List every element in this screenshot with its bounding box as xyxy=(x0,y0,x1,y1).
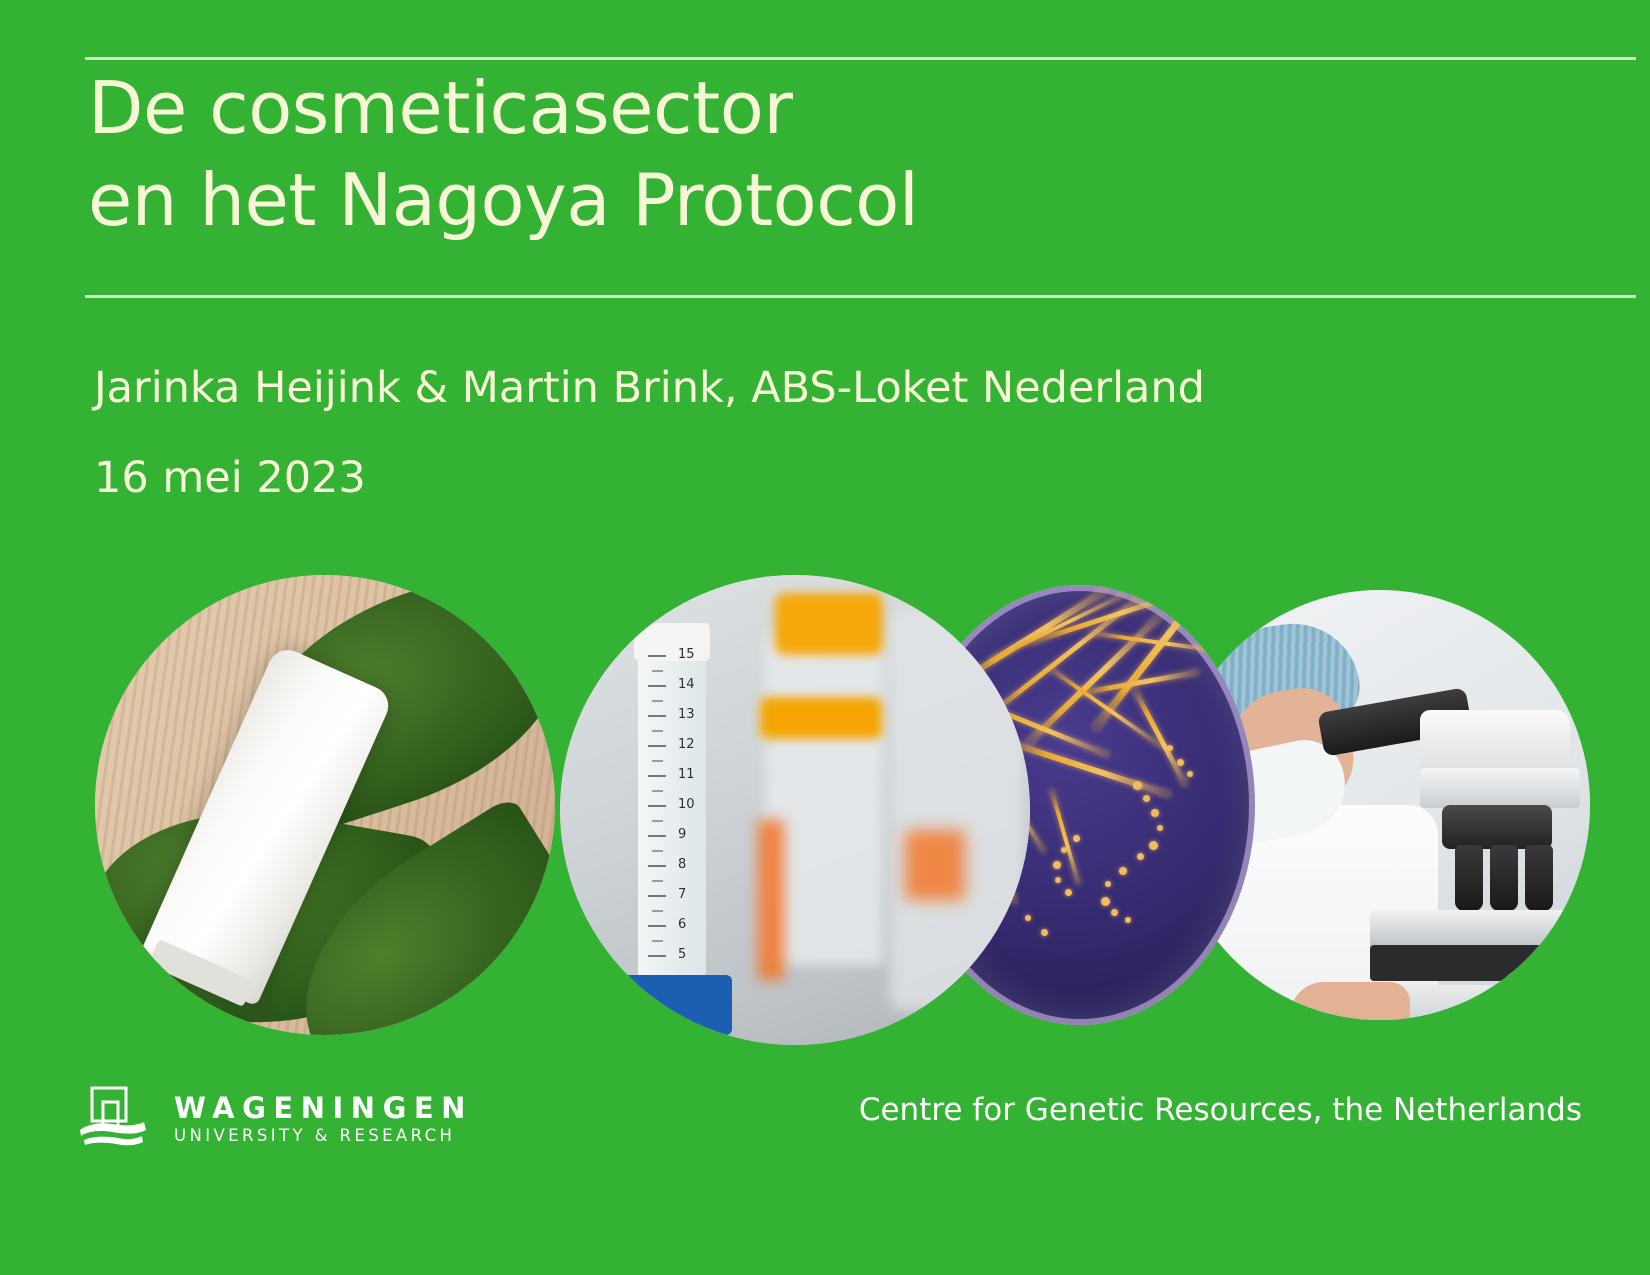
scale-tick xyxy=(648,805,666,807)
bacterial-colony xyxy=(1137,853,1144,860)
microscope-arm xyxy=(1420,768,1580,808)
scale-label: 6 xyxy=(678,917,686,932)
scale-tick xyxy=(648,895,666,897)
title-slide: De cosmeticasector en het Nagoya Protoco… xyxy=(0,0,1650,1275)
photo-strip: 15141312111098765 xyxy=(0,575,1650,1045)
scale-tick-minor xyxy=(652,700,663,702)
scale-tick-minor xyxy=(652,670,663,672)
bacterial-colony xyxy=(1111,909,1118,916)
bacterial-colony xyxy=(1177,759,1184,766)
photo-cosmetic-tube-on-leaves xyxy=(95,575,555,1035)
scale-tick xyxy=(648,835,666,837)
tube-cap xyxy=(634,623,710,661)
microscope-objective xyxy=(1525,845,1553,911)
scale-tick-minor xyxy=(652,910,663,912)
bacterial-colony xyxy=(1055,877,1061,883)
blurred-orange-liquid xyxy=(758,820,784,980)
bacterial-colony xyxy=(1105,881,1111,887)
logo-name: WAGENINGEN xyxy=(174,1091,473,1125)
researcher-hand xyxy=(1290,982,1410,1020)
scale-tick-minor xyxy=(652,850,663,852)
microscope-objective xyxy=(1490,845,1518,911)
scale-tick xyxy=(648,715,666,717)
orange-cap xyxy=(760,697,882,739)
bacterial-colony xyxy=(1053,861,1061,869)
logo-subtitle: UNIVERSITY & RESEARCH xyxy=(174,1125,473,1147)
wageningen-logo: WAGENINGEN UNIVERSITY & RESEARCH xyxy=(78,1082,473,1156)
bacterial-colony xyxy=(1133,781,1142,790)
scale-label: 9 xyxy=(678,827,686,842)
title-line-1: De cosmeticasector xyxy=(88,62,1488,154)
scale-label: 11 xyxy=(678,767,695,782)
title-line-2: en het Nagoya Protocol xyxy=(88,154,1488,246)
title-rule-bottom xyxy=(85,295,1636,298)
scale-tick xyxy=(648,745,666,747)
microscope-nosepiece xyxy=(1442,805,1552,849)
scale-label: 10 xyxy=(678,797,695,812)
bacterial-colony xyxy=(1167,745,1173,751)
blurred-orange-liquid xyxy=(905,830,965,900)
slide-metadata: Jarinka Heijink & Martin Brink, ABS-Loke… xyxy=(94,362,1494,504)
bacterial-colony xyxy=(1157,825,1163,831)
bacterial-colony xyxy=(1065,889,1072,896)
bacterial-colony xyxy=(1101,897,1110,906)
scale-label: 8 xyxy=(678,857,686,872)
scale-tick-minor xyxy=(652,730,663,732)
orange-cap xyxy=(775,593,883,655)
graduated-tube xyxy=(638,647,706,977)
tube-rack xyxy=(612,975,732,1035)
scale-label: 5 xyxy=(678,947,686,962)
scale-label: 12 xyxy=(678,737,695,752)
date-line: 16 mei 2023 xyxy=(94,452,1494,504)
bacterial-colony xyxy=(1149,841,1158,850)
scale-tick xyxy=(648,685,666,687)
bacterial-colony xyxy=(1125,917,1131,923)
scale-tick-minor xyxy=(652,790,663,792)
scale-tick xyxy=(648,865,666,867)
bacterial-colony xyxy=(1119,867,1127,875)
logo-wordmark: WAGENINGEN UNIVERSITY & RESEARCH xyxy=(174,1091,473,1147)
authors-line: Jarinka Heijink & Martin Brink, ABS-Loke… xyxy=(94,362,1494,414)
scale-label: 15 xyxy=(678,647,695,662)
photo-lab-tube-graduated: 15141312111098765 xyxy=(560,575,1030,1045)
footer-organisation: Centre for Genetic Resources, the Nether… xyxy=(859,1092,1582,1128)
page-title: De cosmeticasector en het Nagoya Protoco… xyxy=(88,62,1488,246)
scale-tick-minor xyxy=(652,880,663,882)
scale-tick xyxy=(648,655,666,657)
title-rule-top xyxy=(85,57,1636,60)
bacterial-colony xyxy=(1073,835,1080,842)
wageningen-mark-icon xyxy=(78,1082,156,1156)
bacterial-colony xyxy=(1041,929,1048,936)
bacterial-colony xyxy=(1187,771,1193,777)
scale-label: 7 xyxy=(678,887,686,902)
scale-label: 13 xyxy=(678,707,695,722)
researcher-hand xyxy=(1500,968,1590,1020)
scale-label: 14 xyxy=(678,677,695,692)
scale-tick xyxy=(648,925,666,927)
bacterial-colony xyxy=(1061,847,1067,853)
bacterial-colony xyxy=(1143,795,1150,802)
scale-tick xyxy=(648,775,666,777)
scale-tick-minor xyxy=(652,940,663,942)
blurred-bottle xyxy=(890,610,1025,1010)
scale-tick xyxy=(648,955,666,957)
microscope-objective xyxy=(1455,845,1483,911)
bacterial-colony xyxy=(1151,809,1159,817)
scale-tick-minor xyxy=(652,760,663,762)
scale-tick-minor xyxy=(652,820,663,822)
